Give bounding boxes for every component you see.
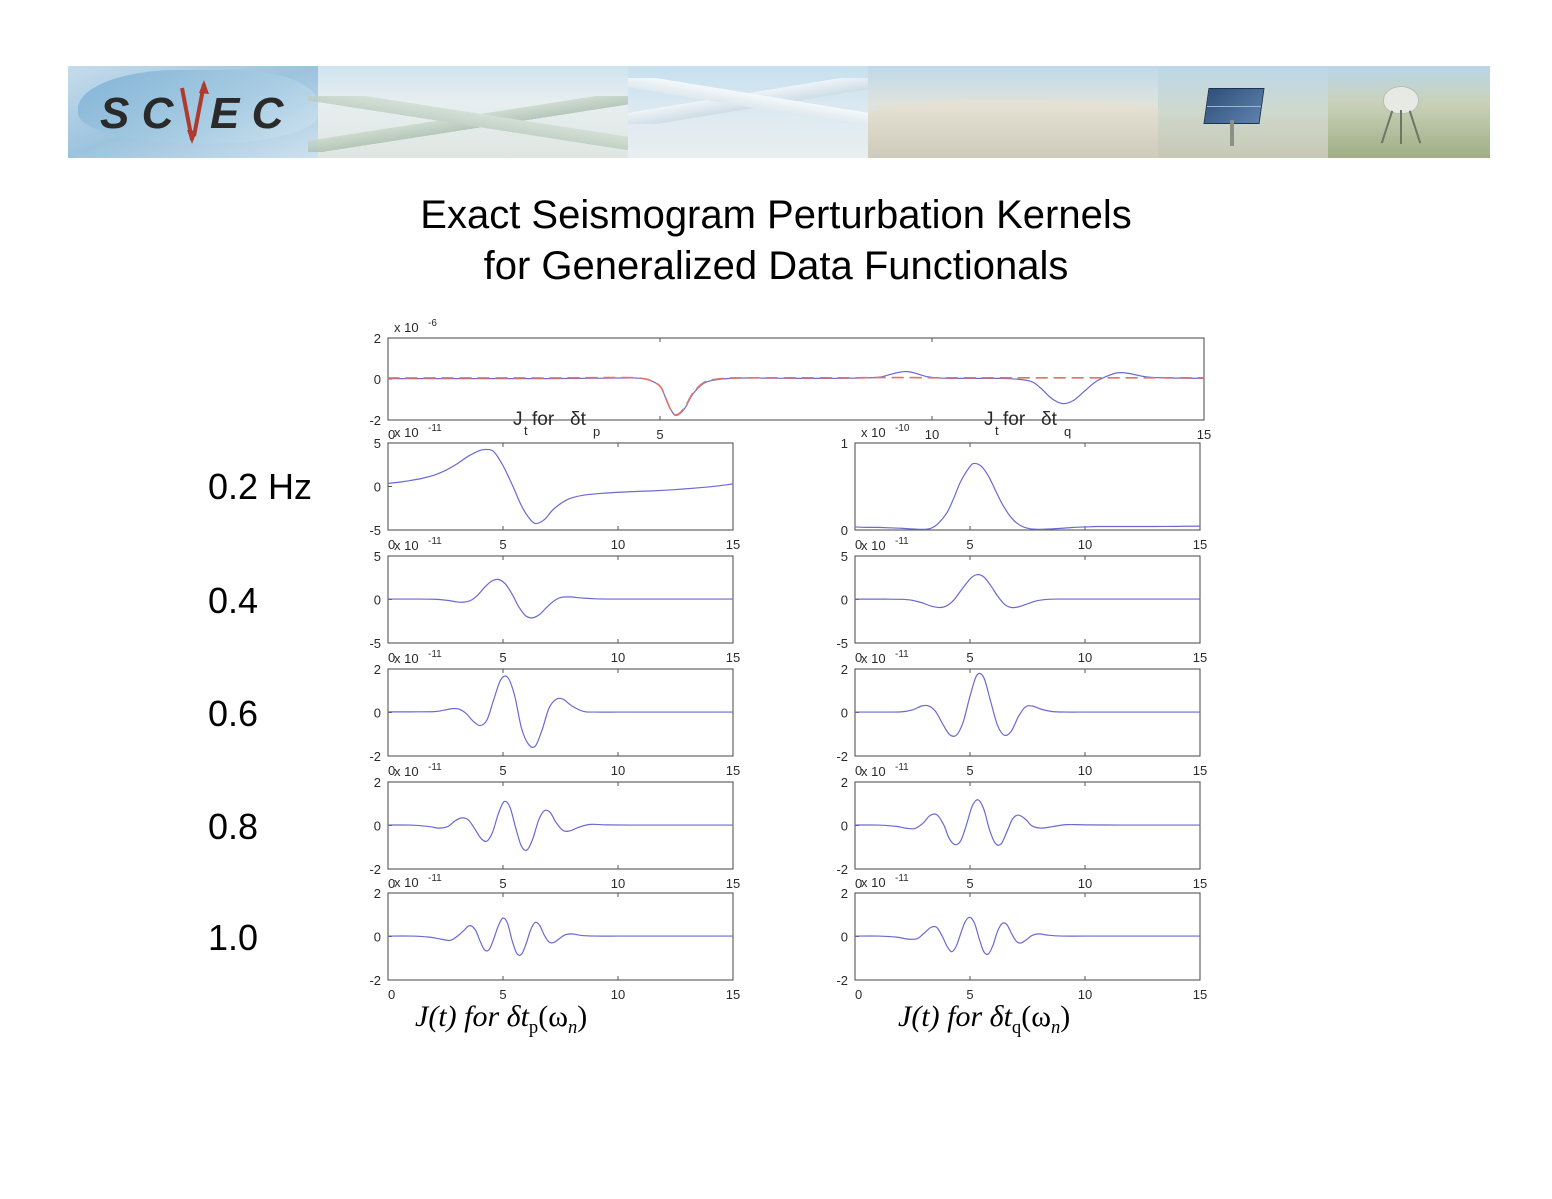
- svg-text:for: for: [532, 409, 555, 430]
- x-tick-label: 15: [1193, 650, 1207, 665]
- axis-exponent-power: -6: [428, 318, 437, 329]
- y-tick-label: -5: [369, 523, 381, 538]
- caption-right-main: J(t) for δt: [898, 1000, 1012, 1033]
- y-tick-label: 2: [374, 775, 381, 790]
- caption-right-close: ): [1060, 1000, 1070, 1033]
- caption-left-main: J(t) for δt: [415, 1000, 529, 1033]
- axis-exponent-label: x 10: [394, 320, 419, 335]
- x-tick-label: 5: [966, 537, 973, 552]
- y-tick-label: 0: [841, 706, 848, 721]
- subplot-right-1.0: -202051015x 10-11: [836, 873, 1207, 1002]
- axis-exponent-label: x 10: [861, 425, 886, 440]
- axis-exponent-label: x 10: [861, 875, 886, 890]
- caption-left-close: ): [577, 1000, 587, 1033]
- x-tick-label: 10: [1078, 650, 1092, 665]
- axis-exponent-power: -11: [895, 649, 909, 660]
- y-tick-label: 2: [374, 886, 381, 901]
- x-tick-label: 10: [611, 763, 625, 778]
- caption-left-arg-sub: n: [568, 1017, 577, 1038]
- x-tick-label: 0: [855, 987, 862, 1002]
- subplot-right-0.6: -202051015x 10-11: [836, 649, 1207, 778]
- caption-right-sub: q: [1012, 1017, 1021, 1038]
- x-tick-label: 15: [1193, 987, 1207, 1002]
- y-tick-label: -2: [836, 973, 848, 988]
- x-tick-label: 10: [1078, 537, 1092, 552]
- x-tick-label: 5: [499, 537, 506, 552]
- row-label-2: 0.6: [208, 693, 258, 735]
- axis-exponent-power: -11: [428, 873, 442, 884]
- x-tick-label: 10: [1078, 987, 1092, 1002]
- y-tick-label: -2: [369, 862, 381, 877]
- row-label-0: 0.2 Hz: [208, 466, 312, 508]
- subplot-left-0.6: -202051015x 10-11: [369, 649, 740, 778]
- y-tick-label: 0: [841, 593, 848, 608]
- x-tick-label: 10: [925, 427, 939, 442]
- y-tick-label: 0: [374, 372, 381, 387]
- subplot-right-0.2: 01051015x 10-10: [841, 423, 1207, 552]
- subplot-right-0.4: -505051015x 10-11: [836, 536, 1207, 665]
- subplot-left-0.4: -505051015x 10-11: [369, 536, 740, 665]
- x-tick-label: 10: [611, 537, 625, 552]
- x-tick-label: 15: [726, 537, 740, 552]
- y-tick-label: 2: [374, 331, 381, 346]
- axis-exponent-label: x 10: [394, 425, 419, 440]
- y-tick-label: 5: [841, 549, 848, 564]
- caption-right: J(t) for δtq(ωn): [898, 1000, 1070, 1039]
- y-tick-label: 0: [841, 523, 848, 538]
- y-tick-label: -2: [369, 973, 381, 988]
- subplot-left-0.2: -505051015x 10-11: [369, 423, 740, 552]
- y-tick-label: 5: [374, 549, 381, 564]
- axis-exponent-power: -11: [428, 649, 442, 660]
- axis-exponent-label: x 10: [394, 875, 419, 890]
- axis-exponent-label: x 10: [394, 764, 419, 779]
- x-tick-label: 15: [726, 987, 740, 1002]
- row-label-1: 0.4: [208, 580, 258, 622]
- y-tick-label: 1: [841, 436, 848, 451]
- y-tick-label: -2: [836, 749, 848, 764]
- x-tick-label: 15: [726, 763, 740, 778]
- y-tick-label: -2: [836, 862, 848, 877]
- axis-exponent-power: -10: [895, 423, 910, 434]
- row-label-4: 1.0: [208, 917, 258, 959]
- y-tick-label: 2: [841, 775, 848, 790]
- axis-exponent-power: -11: [895, 873, 909, 884]
- y-tick-label: 5: [374, 436, 381, 451]
- y-tick-label: -2: [369, 749, 381, 764]
- svg-text:δt: δt: [570, 409, 587, 430]
- x-tick-label: 10: [611, 876, 625, 891]
- axis-exponent-power: -11: [895, 536, 909, 547]
- x-tick-label: 10: [611, 650, 625, 665]
- y-tick-label: -5: [836, 636, 848, 651]
- x-tick-label: 5: [499, 876, 506, 891]
- caption-left-arg: (ω: [538, 1000, 568, 1033]
- x-tick-label: 15: [1193, 876, 1207, 891]
- x-tick-label: 10: [1078, 876, 1092, 891]
- axes-frame: [388, 443, 733, 530]
- y-tick-label: 0: [374, 706, 381, 721]
- y-tick-label: 2: [841, 662, 848, 677]
- caption-left-sub: p: [529, 1017, 538, 1038]
- svg-text:t: t: [995, 423, 999, 438]
- y-tick-label: 0: [374, 480, 381, 495]
- axis-exponent-power: -11: [428, 536, 442, 547]
- axis-exponent-label: x 10: [394, 538, 419, 553]
- axis-exponent-power: -11: [895, 762, 909, 773]
- x-tick-label: 15: [726, 650, 740, 665]
- svg-text:J: J: [513, 409, 523, 430]
- x-tick-label: 5: [499, 650, 506, 665]
- x-tick-label: 0: [388, 987, 395, 1002]
- x-tick-label: 5: [966, 763, 973, 778]
- x-tick-label: 15: [1197, 427, 1211, 442]
- caption-right-arg-sub: n: [1051, 1017, 1060, 1038]
- svg-text:p: p: [593, 424, 600, 439]
- figure-container: -202051015x 10-6-505051015x 10-110105101…: [0, 0, 1552, 1199]
- row-label-3: 0.8: [208, 806, 258, 848]
- axis-exponent-label: x 10: [861, 651, 886, 666]
- svg-text:J: J: [984, 409, 994, 430]
- x-tick-label: 5: [499, 763, 506, 778]
- axis-exponent-power: -11: [428, 762, 442, 773]
- x-tick-label: 5: [656, 427, 663, 442]
- y-tick-label: 0: [374, 593, 381, 608]
- subplot-right-0.8: -202051015x 10-11: [836, 762, 1207, 891]
- x-tick-label: 15: [1193, 537, 1207, 552]
- x-tick-label: 10: [1078, 763, 1092, 778]
- y-tick-label: 0: [374, 819, 381, 834]
- subplot-left-1.0: -202051015x 10-11: [369, 873, 740, 1002]
- y-tick-label: 2: [374, 662, 381, 677]
- y-tick-label: 0: [374, 930, 381, 945]
- caption-right-arg: (ω: [1021, 1000, 1051, 1033]
- subplot-top-wide: -202051015x 10-6: [369, 318, 1211, 442]
- caption-left: J(t) for δtp(ωn): [415, 1000, 587, 1039]
- axis-exponent-label: x 10: [394, 651, 419, 666]
- axis-exponent-label: x 10: [861, 538, 886, 553]
- x-tick-label: 5: [966, 876, 973, 891]
- subplot-left-0.8: -202051015x 10-11: [369, 762, 740, 891]
- y-tick-label: -5: [369, 636, 381, 651]
- x-tick-label: 10: [611, 987, 625, 1002]
- y-tick-label: -2: [369, 413, 381, 428]
- x-tick-label: 15: [726, 876, 740, 891]
- x-tick-label: 15: [1193, 763, 1207, 778]
- svg-text:for: for: [1003, 409, 1026, 430]
- svg-text:δt: δt: [1041, 409, 1058, 430]
- axes-frame: [855, 443, 1200, 530]
- axis-exponent-label: x 10: [861, 764, 886, 779]
- svg-text:t: t: [524, 423, 528, 438]
- svg-text:q: q: [1064, 424, 1071, 439]
- y-tick-label: 2: [841, 886, 848, 901]
- y-tick-label: 0: [841, 930, 848, 945]
- axis-exponent-power: -11: [428, 423, 442, 434]
- y-tick-label: 0: [841, 819, 848, 834]
- x-tick-label: 5: [966, 650, 973, 665]
